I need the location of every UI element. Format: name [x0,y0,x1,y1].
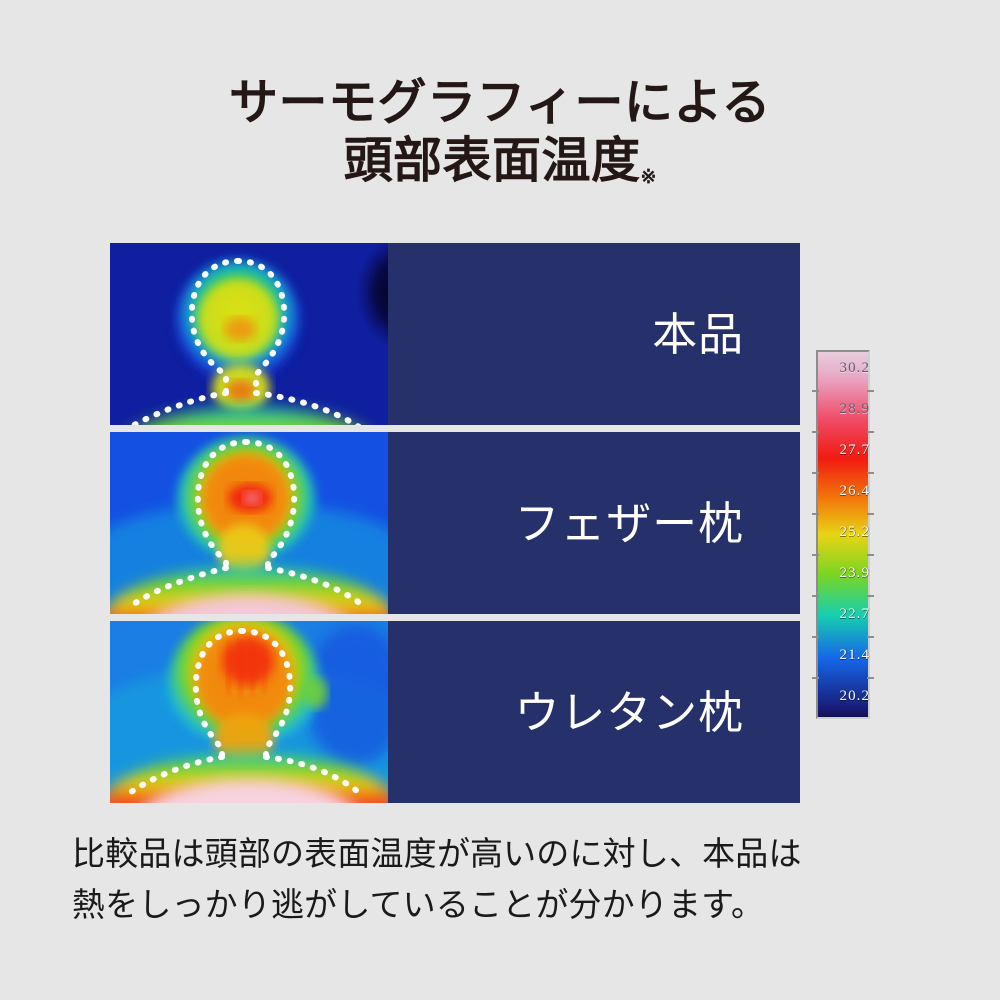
page-title: サーモグラフィーによる 頭部表面温度※ [0,74,1000,190]
colorbar-tick [812,472,819,474]
colorbar-tick [812,390,819,392]
comparison-row-honpin: 本品 [110,243,800,425]
row-label-cell-urethane: ウレタン枕 [388,621,800,803]
thermography-infographic: サーモグラフィーによる 頭部表面温度※ [0,0,1000,1000]
colorbar-label-5: 23.9 [840,566,870,581]
colorbar-label-2: 27.7 [840,443,870,458]
thermal-image-feather [110,432,388,614]
colorbar-tick [812,513,819,515]
caption-text: 比較品は頭部の表面温度が高いのに対し、本品は 熱をしっかり逃がしていることが分か… [72,828,952,931]
colorbar-tick [812,431,819,433]
colorbar-tick [867,677,874,679]
row-label-feather: フェザー枕 [514,501,744,546]
colorbar-tick [867,472,874,474]
row-label-cell-honpin: 本品 [388,243,800,425]
colorbar-tick [812,636,819,638]
colorbar-tick [812,677,819,679]
colorbar-tick [867,513,874,515]
colorbar-tick [812,595,819,597]
colorbar-label-7: 21.4 [840,648,870,663]
caption-line-1: 比較品は頭部の表面温度が高いのに対し、本品は [72,828,952,879]
row-label-urethane: ウレタン枕 [514,690,744,735]
comparison-row-urethane: ウレタン枕 [110,621,800,803]
colorbar-label-4: 25.2 [840,525,870,540]
thermal-image-urethane [110,621,388,803]
thermal-image-honpin [110,243,388,425]
row-label-cell-feather: フェザー枕 [388,432,800,614]
colorbar-label-1: 28.9 [840,402,870,417]
colorbar-tick [867,595,874,597]
thermal-image-honpin-graphic [110,243,388,425]
colorbar-label-3: 26.4 [840,484,870,499]
footnote-mark: ※ [641,167,657,188]
row-label-honpin: 本品 [652,312,744,357]
colorbar-label-0: 30.2 [840,361,870,376]
comparison-panel: 本品 [110,243,800,803]
colorbar-tick [867,431,874,433]
colorbar-tick [867,554,874,556]
colorbar-tick [867,390,874,392]
comparison-row-feather: フェザー枕 [110,432,800,614]
colorbar-label-6: 22.7 [840,607,870,622]
title-line-2: 頭部表面温度※ [0,132,1000,190]
colorbar-label-8: 20.2 [840,689,870,704]
thermal-image-feather-graphic [110,432,388,614]
temperature-colorbar: 30.2 28.9 27.7 26.4 25.2 23.9 22.7 21.4 … [812,350,874,719]
colorbar-tick [867,636,874,638]
colorbar-tick [812,554,819,556]
thermal-image-urethane-graphic [110,621,388,803]
title-line-1: サーモグラフィーによる [0,74,1000,132]
title-line-2-text: 頭部表面温度 [344,133,641,188]
caption-line-2: 熱をしっかり逃がしていることが分かります。 [72,879,952,930]
